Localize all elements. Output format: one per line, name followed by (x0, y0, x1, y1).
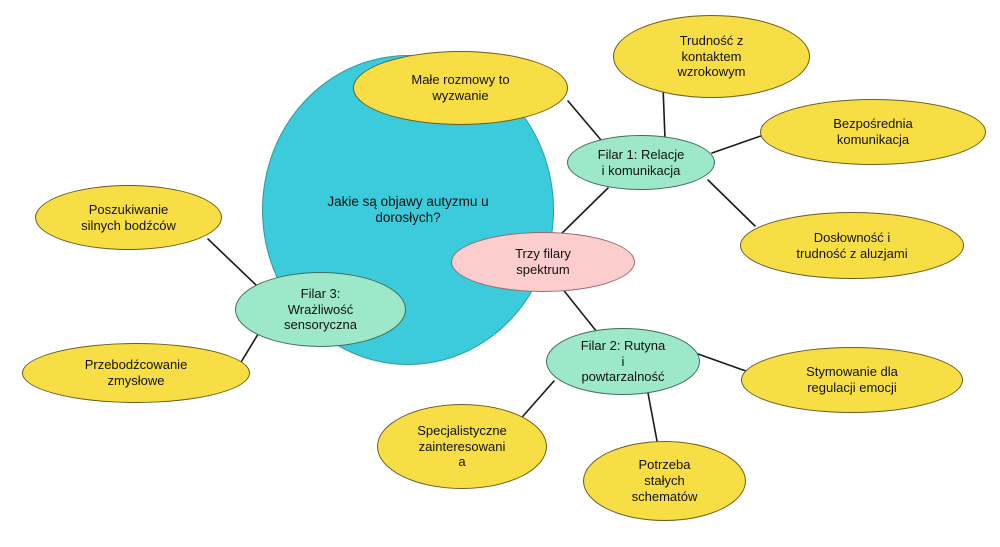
node-label: Bezpośrednia komunikacja (769, 116, 977, 148)
node-label: Filar 2: Rutyna i powtarzalność (555, 338, 691, 386)
node-label: Trudność z kontaktem wzrokowym (622, 33, 801, 81)
edge-pillar1-literalness (708, 180, 755, 226)
node-label: Potrzeba stałych schematów (592, 457, 737, 505)
node-pillar-2-routine[interactable]: Filar 2: Rutyna i powtarzalność (546, 328, 700, 395)
edge-pillar2-fixed-patterns (648, 393, 657, 441)
node-small-talk[interactable]: Małe rozmowy to wyzwanie (353, 51, 568, 125)
node-stimming[interactable]: Stymowanie dla regulacji emocji (741, 347, 963, 413)
node-eye-contact[interactable]: Trudność z kontaktem wzrokowym (613, 15, 810, 98)
node-direct-communication[interactable]: Bezpośrednia komunikacja (760, 99, 986, 165)
node-label: Filar 3: Wrażliwość sensoryczna (244, 286, 397, 334)
node-label: Przebodźcowanie zmysłowe (31, 357, 241, 389)
node-label: Specjalistyczne zainteresowani a (386, 423, 538, 471)
node-label: Małe rozmowy to wyzwanie (362, 72, 559, 104)
mind-map-canvas: Jakie są objawy autyzmu u dorosłych? Mał… (0, 0, 1000, 547)
node-special-interests[interactable]: Specjalistyczne zainteresowani a (377, 404, 547, 489)
node-literalness[interactable]: Dosłowność i trudność z aluzjami (740, 212, 964, 279)
node-pillar-3-sensory[interactable]: Filar 3: Wrażliwość sensoryczna (235, 272, 406, 347)
node-strong-stimuli[interactable]: Poszukiwanie silnych bodźców (35, 185, 222, 250)
node-label: Poszukiwanie silnych bodźców (44, 202, 213, 234)
node-three-pillars-hub[interactable]: Trzy filary spektrum (451, 232, 635, 292)
node-pillar-1-relations[interactable]: Filar 1: Relacje i komunikacja (567, 135, 715, 190)
edge-pillar1-eye-contact (663, 86, 665, 139)
node-overstimulation[interactable]: Przebodźcowanie zmysłowe (22, 343, 250, 403)
node-fixed-patterns[interactable]: Potrzeba stałych schematów (583, 441, 746, 521)
edge-pillar3-strong-stimuli (208, 239, 256, 285)
node-label: Stymowanie dla regulacji emocji (750, 364, 954, 396)
node-label: Dosłowność i trudność z aluzjami (749, 230, 955, 262)
edge-hub-pillar2 (561, 287, 597, 332)
edge-small-talk-pillar1 (568, 101, 601, 140)
node-label: Jakie są objawy autyzmu u dorosłych? (271, 194, 545, 227)
node-label: Filar 1: Relacje i komunikacja (576, 147, 706, 179)
node-label: Trzy filary spektrum (460, 246, 626, 278)
